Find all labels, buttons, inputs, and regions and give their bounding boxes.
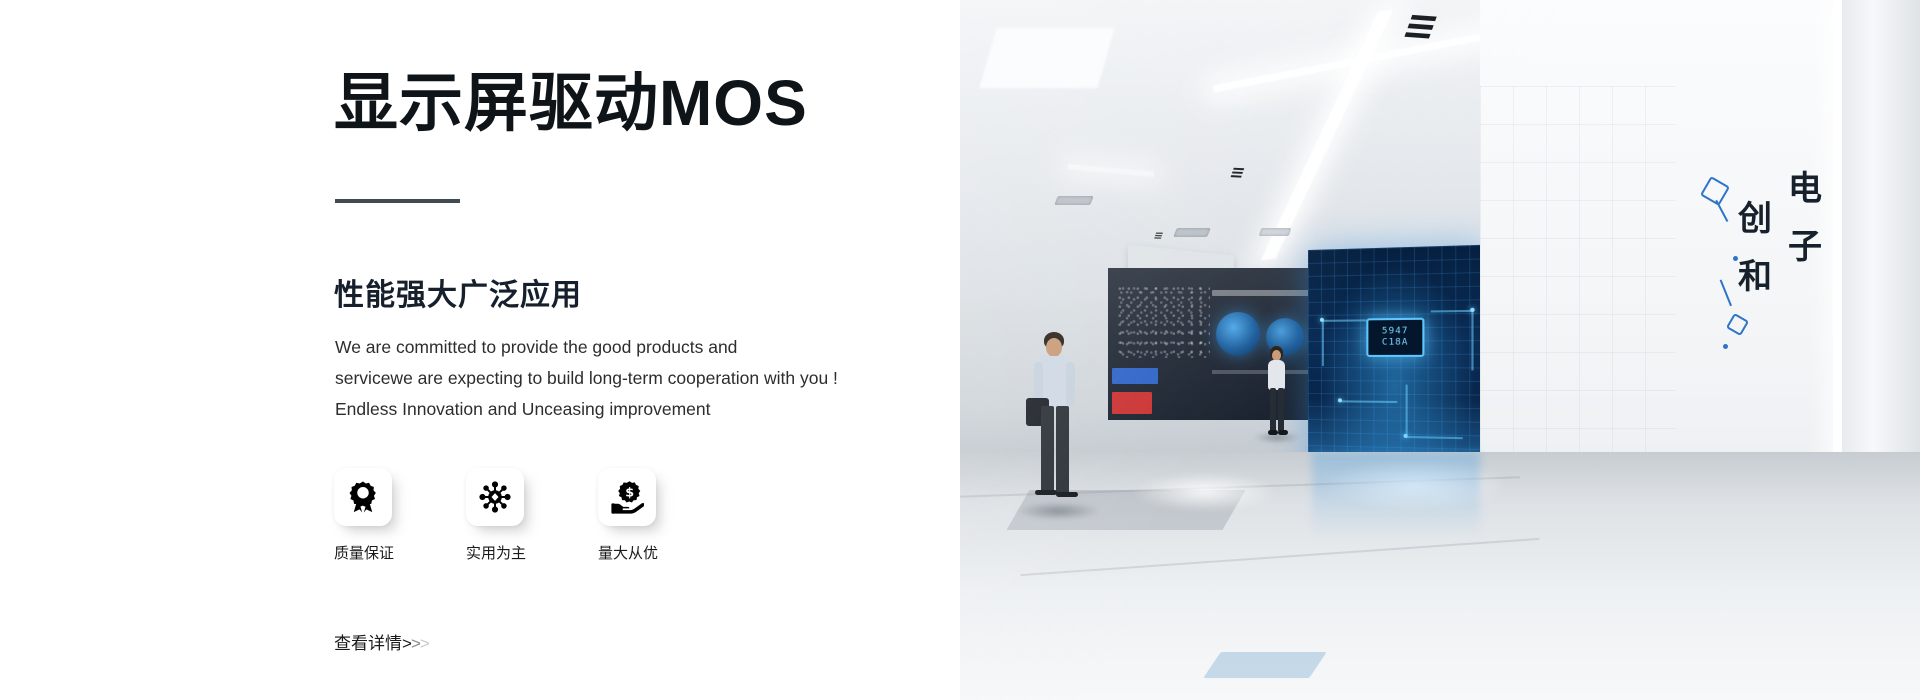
hexagon-mark-2-icon bbox=[1726, 313, 1749, 336]
man-arm-right bbox=[1066, 362, 1075, 406]
led-display-screen: 5947 C18A bbox=[1308, 245, 1487, 476]
ceiling-vent-1 bbox=[1054, 196, 1094, 205]
woman-top bbox=[1268, 360, 1285, 390]
feature-item-practical[interactable]: 实用为主 bbox=[466, 468, 542, 561]
hand-money-icon[interactable]: $ bbox=[598, 468, 656, 526]
wall-logo-char-2: 和 bbox=[1738, 260, 1772, 294]
view-details-label: 查看详情 bbox=[334, 629, 402, 654]
floor-led-reflection bbox=[1312, 452, 1480, 538]
hexagon-link-1-icon bbox=[1716, 200, 1729, 222]
ceiling-skylight bbox=[979, 28, 1114, 88]
hexagon-link-2-icon bbox=[1720, 280, 1732, 307]
hexagon-mark-1-icon bbox=[1700, 176, 1730, 206]
banner-text-panel: 显示屏驱动MOS 性能强大广泛应用 We are committed to pr… bbox=[0, 0, 960, 700]
title-divider bbox=[335, 199, 460, 203]
circuit-node-2 bbox=[1470, 308, 1474, 312]
man-shadow bbox=[1016, 502, 1100, 520]
description-line-2: servicewe are expecting to build long-te… bbox=[335, 363, 838, 394]
back-wall-badge-blue bbox=[1112, 368, 1158, 384]
woman-shoe-right bbox=[1278, 430, 1288, 435]
floor-blue-rug bbox=[1203, 652, 1327, 678]
back-wall-title-bar bbox=[1212, 290, 1322, 296]
woman-leg-right bbox=[1278, 388, 1284, 432]
hero-banner: 显示屏驱动MOS 性能强大广泛应用 We are committed to pr… bbox=[0, 0, 1920, 700]
man-shoe-right bbox=[1056, 492, 1078, 497]
person-woman bbox=[1260, 346, 1294, 438]
ceiling-vent-2 bbox=[1173, 228, 1211, 237]
floor-reflection-1 bbox=[1130, 472, 1280, 512]
network-hub-icon[interactable] bbox=[466, 468, 524, 526]
view-details-link[interactable]: 查看详情>>> bbox=[334, 629, 429, 654]
wall-logo-char-4: 子 bbox=[1788, 230, 1822, 264]
ceiling-strip-light-1 bbox=[1261, 10, 1393, 260]
chevron-2-icon: > bbox=[411, 634, 420, 654]
company-wall-logo: 创 和 电 子 bbox=[1704, 168, 1824, 378]
wall-logo-char-1: 创 bbox=[1738, 202, 1772, 236]
chevron-1-icon: > bbox=[402, 634, 411, 654]
chip-code-line-2: C18A bbox=[1382, 338, 1409, 348]
floor-seam-2 bbox=[1021, 538, 1540, 576]
man-shoe-left bbox=[1035, 490, 1057, 495]
woman-shoe-left bbox=[1268, 430, 1278, 435]
showroom-photograph: ≡ ≡ ≡ 5947 bbox=[960, 0, 1920, 700]
woman-leg-left bbox=[1270, 388, 1276, 432]
hexagon-node-2-icon bbox=[1723, 344, 1728, 349]
wall-logo-char-3: 电 bbox=[1788, 172, 1822, 206]
man-leg-left bbox=[1041, 406, 1054, 492]
feature-label-practical: 实用为主 bbox=[466, 546, 526, 561]
feature-item-volume[interactable]: $ 量大从优 bbox=[598, 468, 674, 561]
feature-label-volume: 量大从优 bbox=[598, 546, 658, 561]
circuit-trace-2 bbox=[1322, 320, 1324, 366]
circuit-trace-4 bbox=[1471, 310, 1473, 371]
ceiling-strip-light-3 bbox=[1068, 164, 1154, 176]
man-leg-right bbox=[1056, 406, 1069, 494]
feature-list: 质量保证 bbox=[334, 468, 674, 561]
ceiling-vent-3 bbox=[1259, 228, 1292, 236]
svg-text:$: $ bbox=[625, 486, 634, 501]
description-paragraph: We are committed to provide the good pro… bbox=[335, 332, 838, 425]
description-line-3: Endless Innovation and Unceasing improve… bbox=[335, 394, 838, 425]
man-head bbox=[1046, 338, 1062, 357]
page-title: 显示屏驱动MOS bbox=[334, 68, 808, 138]
floor-plane bbox=[960, 452, 1920, 700]
description-line-1: We are committed to provide the good pro… bbox=[335, 332, 838, 363]
circuit-node-1 bbox=[1320, 318, 1324, 322]
feature-item-quality[interactable]: 质量保证 bbox=[334, 468, 410, 561]
subtitle: 性能强大广泛应用 bbox=[334, 270, 582, 314]
person-man bbox=[1022, 332, 1094, 510]
chip-graphic: 5947 C18A bbox=[1366, 318, 1424, 357]
back-wall-photo-circle-1 bbox=[1216, 312, 1260, 356]
award-ribbon-icon[interactable] bbox=[334, 468, 392, 526]
chevron-3-icon: > bbox=[420, 634, 429, 654]
back-wall-badge-red bbox=[1112, 392, 1152, 414]
world-map-graphic bbox=[1118, 286, 1210, 358]
feature-label-quality: 质量保证 bbox=[334, 546, 394, 561]
chip-code-line-1: 5947 bbox=[1382, 327, 1409, 337]
